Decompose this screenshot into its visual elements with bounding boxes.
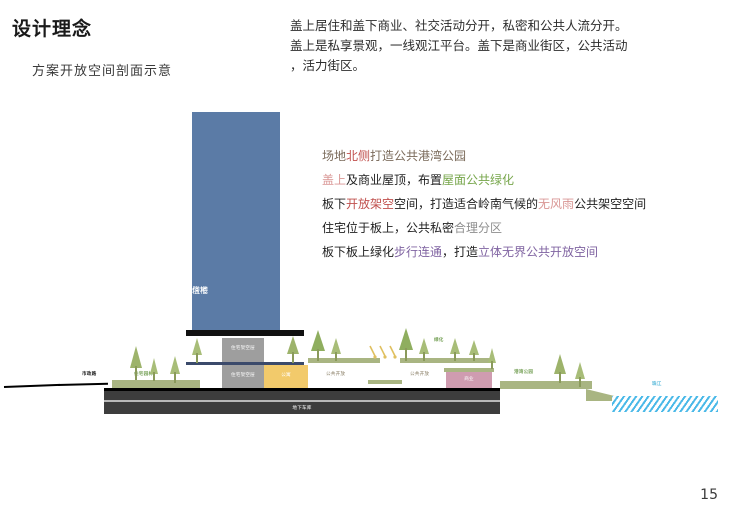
ventilation-arrows-icon: [368, 344, 402, 362]
greening-label: 绿化: [434, 338, 444, 344]
tree-icon: [168, 356, 182, 384]
commercial-label: 商业: [446, 377, 492, 383]
tree-icon: [486, 348, 498, 370]
harbor-park-label: 港湾公园: [514, 370, 533, 376]
page-subtitle: 方案开放空间剖面示意: [32, 60, 172, 79]
public-deck-band-3: [368, 380, 402, 384]
basement-slab-1: [104, 391, 500, 400]
tree-icon: [574, 362, 587, 388]
tree-icon: [552, 354, 568, 384]
intro-paragraph: 盖上居住和盖下商业、社交活动分开，私密和公共人流分开。 盖上是私享景观，一线观江…: [290, 16, 730, 76]
intro-line-3: ，活力街区。: [290, 56, 730, 76]
tree-icon: [330, 338, 343, 362]
site-grade-line-left: [4, 384, 60, 388]
public-open-label-2: 公共开放: [410, 372, 429, 378]
residential-stilt-lower-label: 住宅架空层: [222, 373, 264, 379]
residential-tower-block: [192, 112, 280, 330]
tree-icon: [448, 338, 462, 362]
underground-garage-label: 地下车库: [104, 406, 500, 412]
residential-stilt-upper-label: 住宅架空层: [222, 346, 264, 352]
page-number: 15: [700, 487, 718, 503]
tree-icon: [286, 336, 301, 364]
tower-label-line-2: 塔楼: [192, 285, 208, 296]
pearl-river-label: 珠江: [652, 382, 662, 388]
tree-icon: [128, 346, 144, 382]
pearl-river-water: [612, 396, 718, 412]
site-grade-line-left2: [58, 383, 108, 386]
slide-root: 设计理念 方案开放空间剖面示意 盖上居住和盖下商业、社交活动分开，私密和公共人流…: [0, 0, 740, 527]
tree-icon: [468, 340, 481, 362]
intro-line-2: 盖上是私享景观，一线观江平台。盖下是商业街区，公共活动: [290, 36, 730, 56]
tree-icon: [190, 338, 204, 364]
public-open-label-1: 公共开放: [326, 372, 345, 378]
intro-line-1: 盖上居住和盖下商业、社交活动分开，私密和公共人流分开。: [290, 16, 730, 36]
tree-icon: [310, 330, 327, 362]
shop-label: 公寓: [264, 373, 308, 379]
page-title: 设计理念: [12, 14, 92, 41]
tree-icon: [148, 358, 160, 382]
municipal-road-label: 市政路: [82, 372, 96, 378]
architectural-section-diagram: 住宅 塔楼 住宅架空层 住宅架空层 公寓 公共开放 公共开放 绿化 商业: [0, 100, 740, 430]
tree-icon: [418, 338, 431, 362]
